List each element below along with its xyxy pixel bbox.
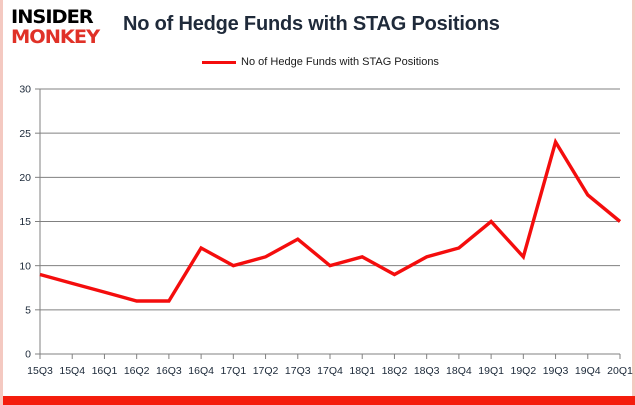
x-axis-tick-label: 17Q2 (253, 365, 279, 377)
logo-text-insider: INSIDER (11, 8, 118, 27)
x-axis-tick-label: 15Q3 (27, 365, 53, 377)
x-axis-tick-label: 15Q4 (59, 365, 85, 377)
page-frame: INSIDER MONKEY No of Hedge Funds with ST… (0, 0, 635, 405)
chart-legend: No of Hedge Funds with STAG Positions (3, 56, 635, 68)
legend-color-swatch (202, 61, 236, 64)
header: INSIDER MONKEY No of Hedge Funds with ST… (3, 0, 635, 50)
bottom-accent-bar (3, 396, 635, 405)
x-axis-tick-label: 19Q1 (478, 365, 504, 377)
logo-text-monkey: MONKEY (11, 28, 118, 47)
x-axis-tick-label: 17Q3 (285, 365, 311, 377)
x-axis-tick-label: 18Q4 (446, 365, 472, 377)
x-axis-tick-label: 17Q1 (220, 365, 246, 377)
page-title: No of Hedge Funds with STAG Positions (123, 13, 500, 36)
y-axis-tick-label: 25 (19, 128, 31, 140)
insider-monkey-logo: INSIDER MONKEY (11, 8, 116, 46)
x-axis-tick-label: 19Q2 (510, 365, 536, 377)
y-axis-tick-label: 20 (19, 172, 31, 184)
x-axis-tick-label: 16Q1 (92, 365, 118, 377)
x-axis-tick-label: 16Q3 (156, 365, 182, 377)
x-axis-tick-label: 16Q4 (188, 365, 214, 377)
x-axis-tick-label: 17Q4 (317, 365, 343, 377)
y-axis-tick-label: 30 (19, 84, 31, 96)
y-axis-tick-label: 15 (19, 216, 31, 228)
y-axis-tick-label: 0 (25, 349, 31, 361)
line-chart-svg: 051015202530 15Q315Q416Q116Q216Q316Q417Q… (3, 76, 635, 396)
x-axis-ticks: 15Q315Q416Q116Q216Q316Q417Q117Q217Q317Q4… (27, 354, 633, 377)
x-axis-tick-label: 19Q4 (575, 365, 601, 377)
chart-plot-area: 051015202530 15Q315Q416Q116Q216Q316Q417Q… (3, 76, 635, 396)
y-axis-ticks: 051015202530 (19, 84, 40, 361)
y-axis-tick-label: 5 (25, 305, 31, 317)
x-axis-tick-label: 18Q3 (414, 365, 440, 377)
legend-item-label: No of Hedge Funds with STAG Positions (241, 56, 439, 68)
x-axis-tick-label: 19Q3 (543, 365, 569, 377)
x-axis-tick-label: 20Q1 (607, 365, 633, 377)
y-axis-tick-label: 10 (19, 260, 31, 272)
x-axis-tick-label: 18Q1 (349, 365, 375, 377)
x-axis-tick-label: 18Q2 (382, 365, 408, 377)
x-axis-tick-label: 16Q2 (124, 365, 150, 377)
